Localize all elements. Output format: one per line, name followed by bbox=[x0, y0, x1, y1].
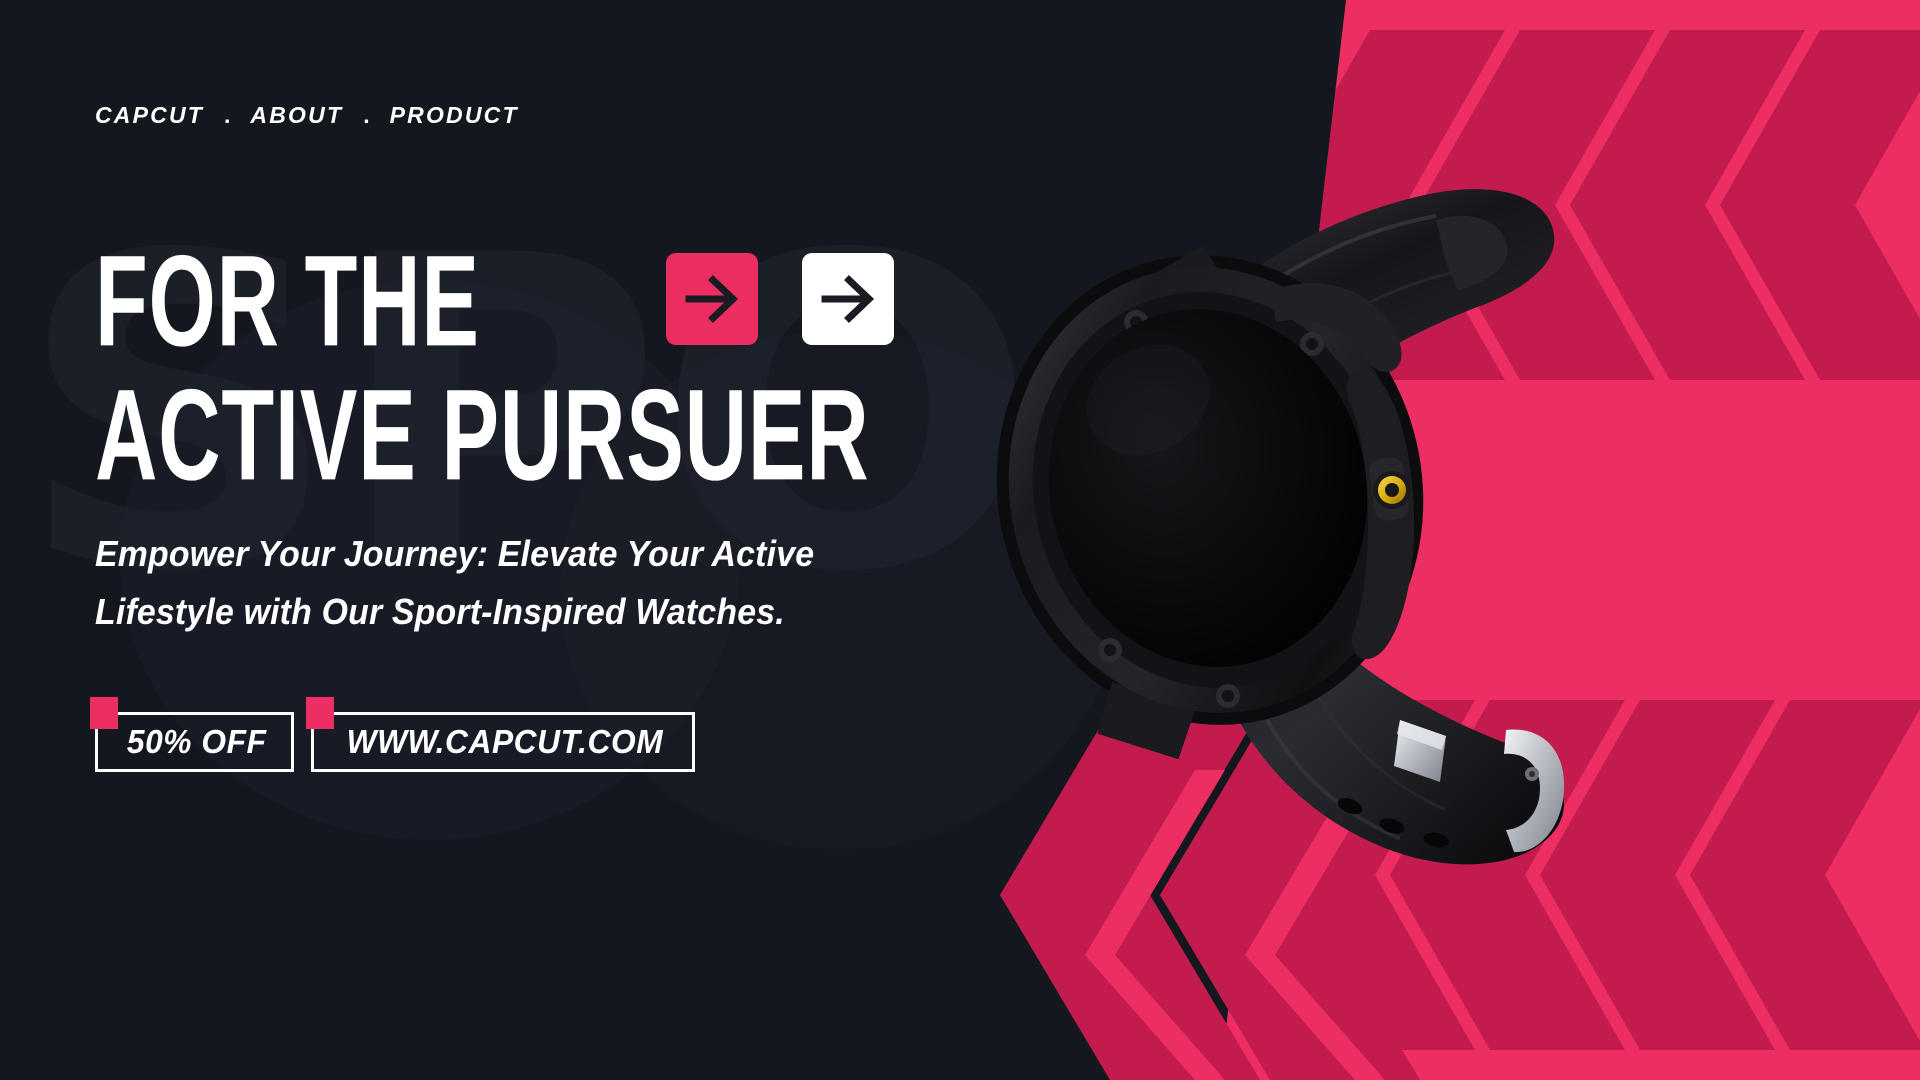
product-image-smartwatch bbox=[880, 130, 1660, 890]
headline-block: FOR THE bbox=[95, 248, 1063, 488]
smartwatch-illustration bbox=[880, 130, 1660, 890]
headline-line-2: ACTIVE PURSUER bbox=[95, 371, 870, 498]
nav-separator-1: . bbox=[204, 102, 250, 129]
badge-corner-square bbox=[90, 697, 118, 729]
nav-item-about[interactable]: ABOUT bbox=[250, 102, 343, 129]
badge-group: 50% OFF WWW.CAPCUT.COM bbox=[95, 712, 695, 772]
arrow-right-icon bbox=[819, 270, 877, 328]
headline-row-1: FOR THE bbox=[95, 248, 1063, 354]
arrow-button-group bbox=[666, 253, 894, 345]
promo-banner: SPO CAPCUT . ABOUT . PRODUCT FOR THE bbox=[0, 0, 1920, 1080]
arrow-button-primary[interactable] bbox=[666, 253, 758, 345]
subtitle-block: Empower Your Journey: Elevate Your Activ… bbox=[95, 525, 814, 642]
nav-item-product[interactable]: PRODUCT bbox=[390, 102, 519, 129]
headline-line-1: FOR THE bbox=[95, 237, 480, 364]
website-badge-label: WWW.CAPCUT.COM bbox=[347, 723, 664, 761]
nav-item-capcut[interactable]: CAPCUT bbox=[95, 102, 204, 129]
discount-badge[interactable]: 50% OFF bbox=[95, 712, 294, 772]
subtitle-line-2: Lifestyle with Our Sport-Inspired Watche… bbox=[95, 583, 814, 641]
discount-badge-label: 50% OFF bbox=[127, 723, 267, 761]
top-navigation: CAPCUT . ABOUT . PRODUCT bbox=[95, 102, 519, 129]
arrow-right-icon bbox=[683, 270, 741, 328]
website-badge[interactable]: WWW.CAPCUT.COM bbox=[311, 712, 695, 772]
subtitle-line-1: Empower Your Journey: Elevate Your Activ… bbox=[95, 525, 814, 583]
badge-corner-square bbox=[306, 697, 334, 729]
nav-separator-2: . bbox=[343, 102, 389, 129]
arrow-button-secondary[interactable] bbox=[802, 253, 894, 345]
